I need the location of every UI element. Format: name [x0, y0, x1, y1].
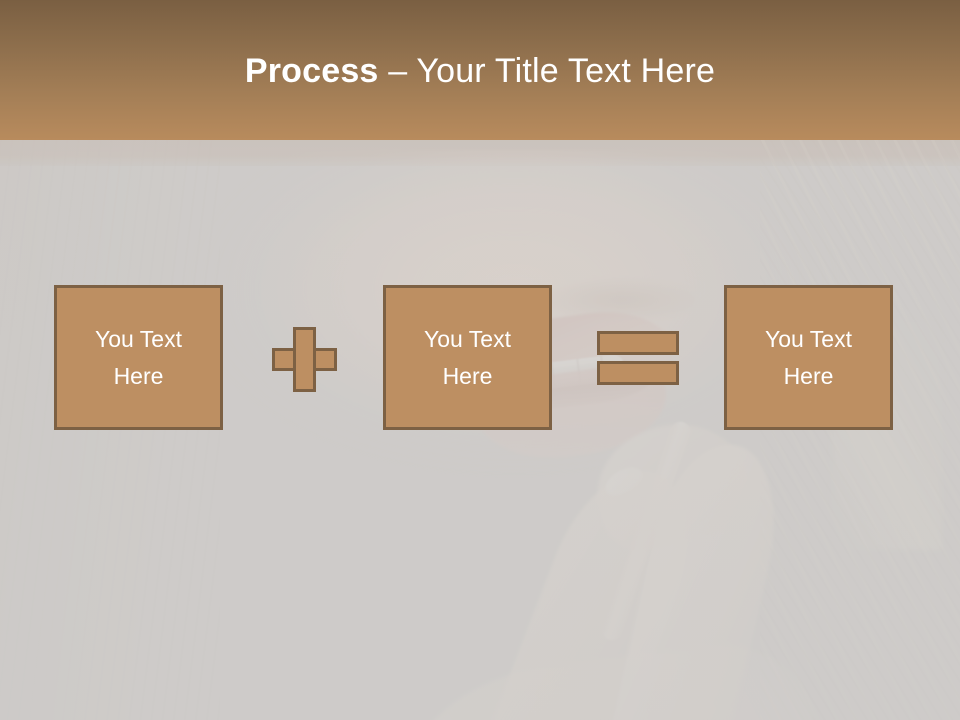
- process-box-2-label: You Text Here: [424, 321, 511, 395]
- process-box-2[interactable]: You Text Here: [383, 285, 552, 430]
- process-box-1-label: You Text Here: [95, 321, 182, 395]
- plus-icon-center-fill: [296, 351, 313, 368]
- process-box-3-label: You Text Here: [765, 321, 852, 395]
- process-box-3[interactable]: You Text Here: [724, 285, 893, 430]
- equals-icon-top-bar: [597, 331, 679, 355]
- plus-icon: [272, 327, 337, 392]
- process-box-1[interactable]: You Text Here: [54, 285, 223, 430]
- slide: Process – Your Title Text Here You Text …: [0, 0, 960, 720]
- process-diagram: You Text Here You Text Here You Text Her…: [0, 0, 960, 720]
- equals-icon: [597, 331, 679, 385]
- equals-icon-bottom-bar: [597, 361, 679, 385]
